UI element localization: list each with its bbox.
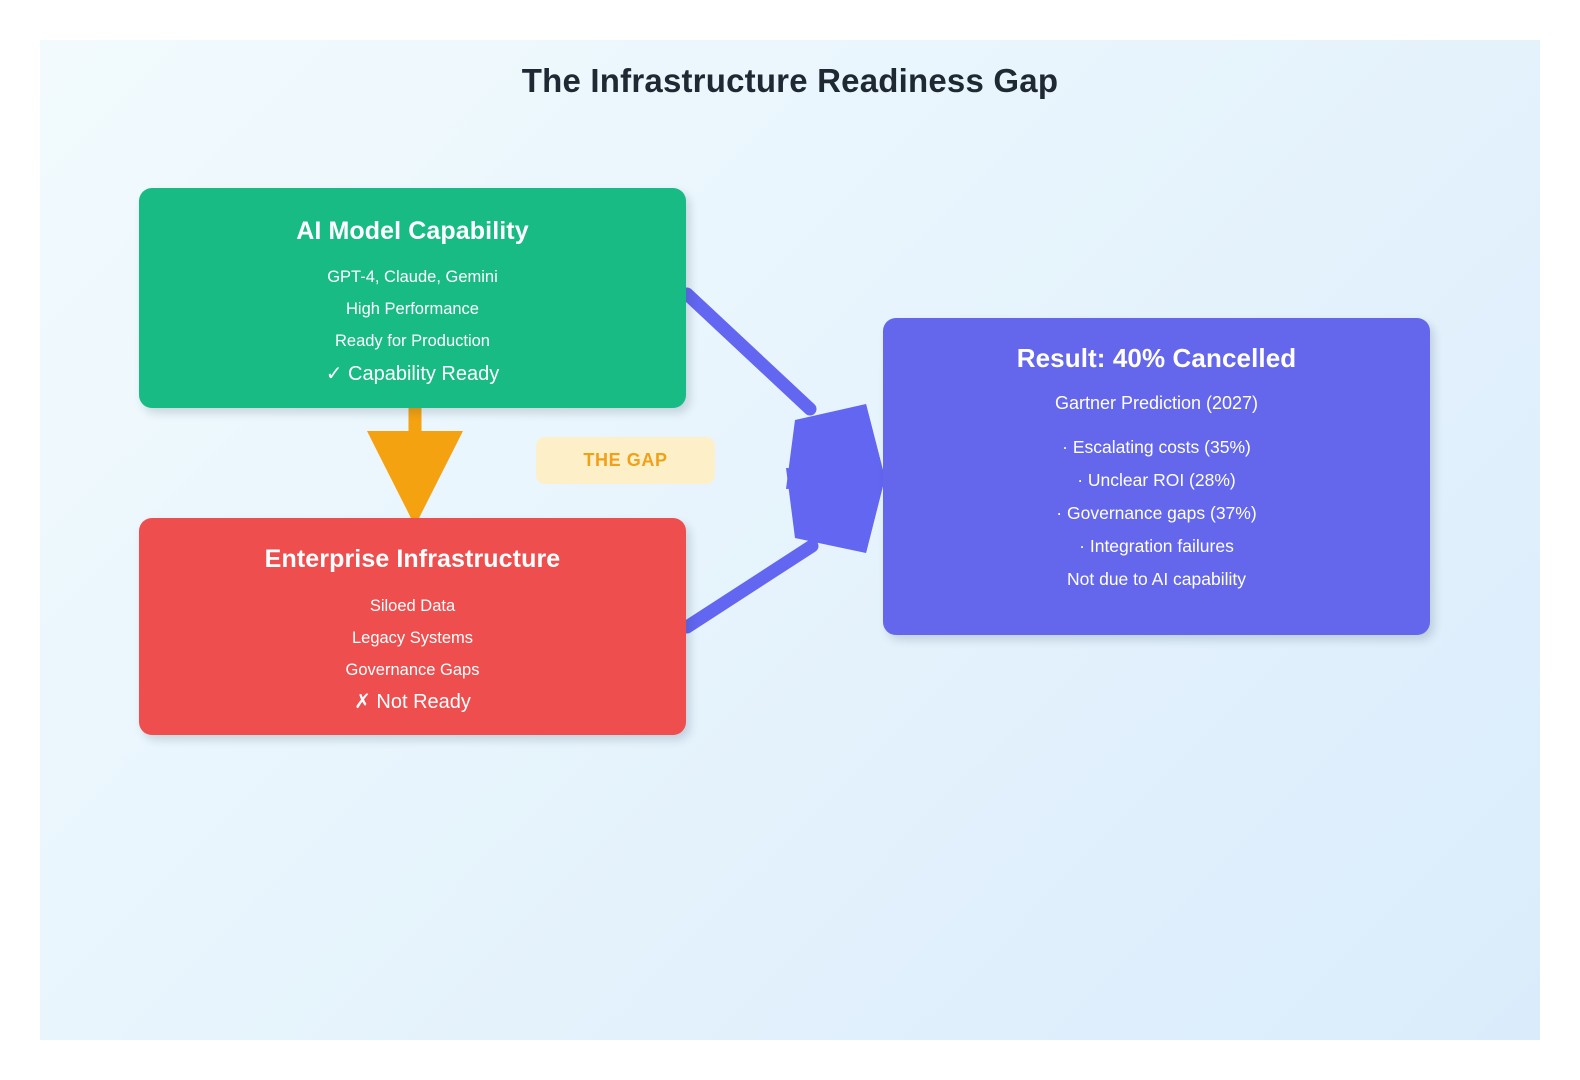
node-result-cancelled[interactable]: Result: 40% Cancelled Gartner Prediction… [883,318,1430,635]
result-bullet-0: · Escalating costs (35%) [883,437,1430,458]
node-subtitle-result: Gartner Prediction (2027) [883,393,1430,414]
result-bullet-list: · Escalating costs (35%) · Unclear ROI (… [883,437,1430,557]
gap-badge: THE GAP [536,437,715,484]
node-line-infrastructure-0: Siloed Data [139,597,686,616]
diagram-canvas: The Infrastructure Readiness Gap AI Mode… [0,0,1580,1080]
node-line-infrastructure-1: Legacy Systems [139,629,686,648]
result-bullet-1: · Unclear ROI (28%) [883,470,1430,491]
status-badge-not-ready: ✗ Not Ready [139,689,686,714]
flow-arrow-infrastructure-to-result [687,468,885,627]
node-line-capability-2: Ready for Production [139,332,686,351]
status-badge-capability-ready: ✓ Capability Ready [139,361,686,386]
node-title-infrastructure: Enterprise Infrastructure [139,545,686,574]
node-title-result: Result: 40% Cancelled [883,343,1430,374]
flow-arrow-capability-to-result [687,294,885,489]
node-line-capability-1: High Performance [139,300,686,319]
node-line-capability-0: GPT-4, Claude, Gemini [139,268,686,287]
result-footnote: Not due to AI capability [883,569,1430,590]
node-line-infrastructure-2: Governance Gaps [139,661,686,680]
gap-arrow [367,406,463,526]
gap-badge-label: THE GAP [583,450,667,471]
node-ai-model-capability[interactable]: AI Model Capability GPT-4, Claude, Gemin… [139,188,686,408]
result-bullet-2: · Governance gaps (37%) [883,503,1430,524]
node-enterprise-infrastructure[interactable]: Enterprise Infrastructure Siloed Data Le… [139,518,686,735]
result-bullet-3: · Integration failures [883,536,1430,557]
node-title-capability: AI Model Capability [139,217,686,246]
